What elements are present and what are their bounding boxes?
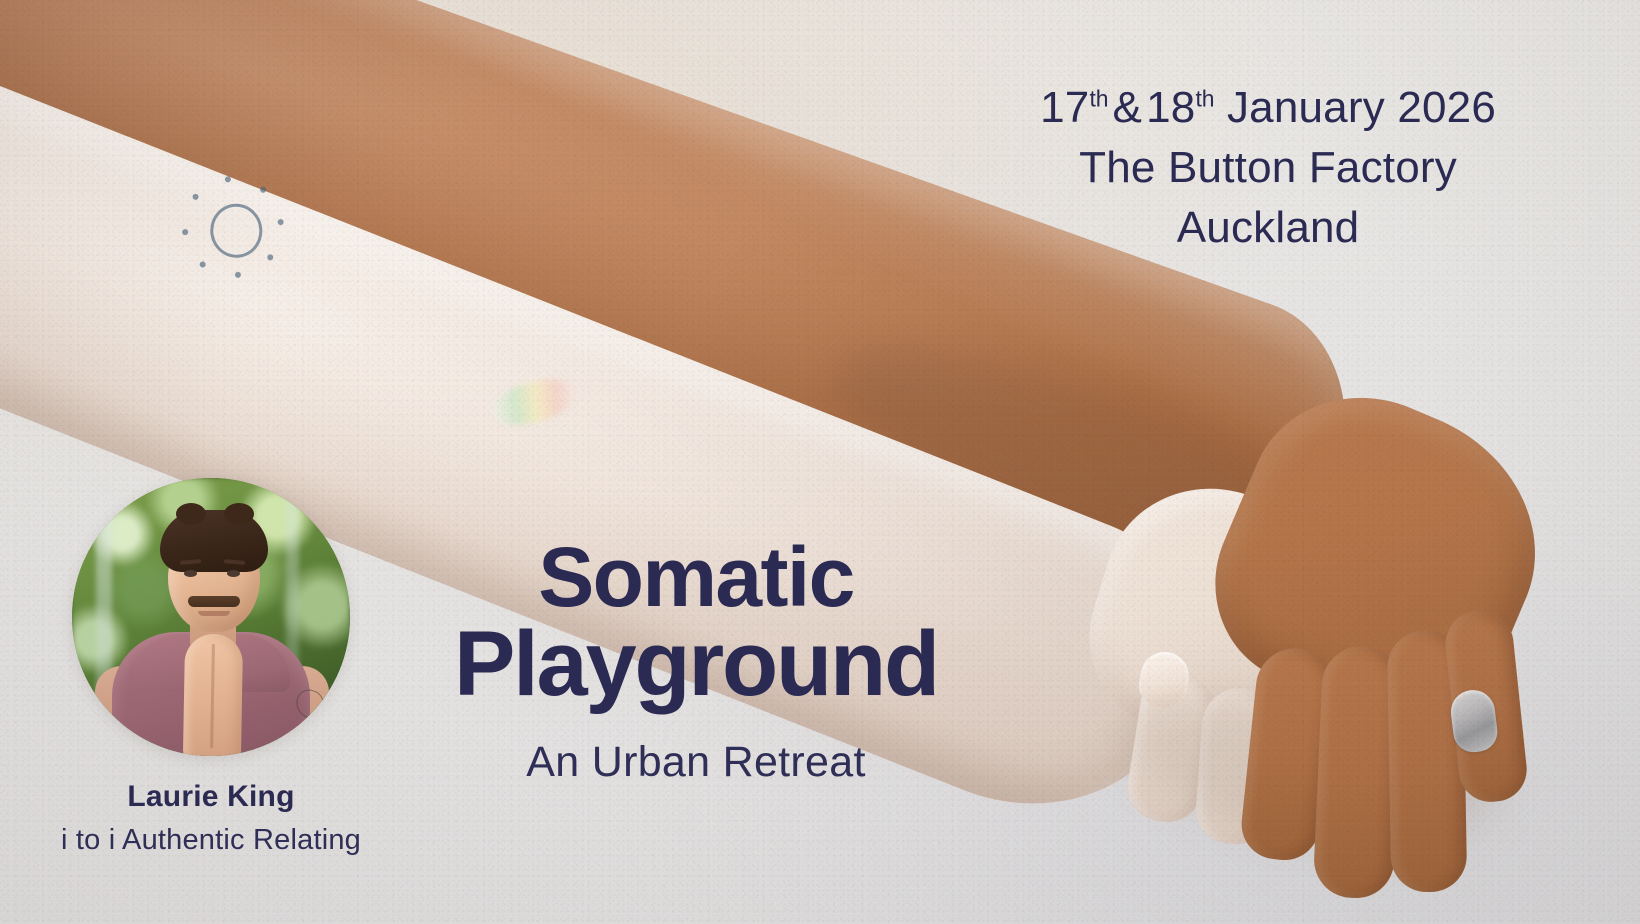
subtitle: An Urban Retreat <box>426 738 966 787</box>
page-title: Somatic Playground An Urban Retreat <box>426 536 966 787</box>
event-date-ordinal-2: th <box>1195 85 1214 111</box>
event-date-ordinal-1: th <box>1089 85 1108 111</box>
event-venue: The Button Factory <box>1040 138 1496 198</box>
event-month-year: January 2026 <box>1227 83 1496 132</box>
event-date-day-2: 18 <box>1146 83 1195 132</box>
avatar-mouth <box>198 611 230 616</box>
event-date-day-1: 17 <box>1040 83 1089 132</box>
presenter-organisation: i to i Authentic Relating <box>46 824 376 857</box>
avatar-hair <box>160 510 268 572</box>
avatar-eye <box>184 570 197 577</box>
presenter-block: Laurie King i to i Authentic Relating <box>46 478 376 857</box>
title-line-1: Somatic <box>426 536 966 619</box>
avatar-moustache <box>188 596 240 607</box>
event-date-line: 17th&18th January 2026 <box>1040 78 1496 138</box>
avatar-eye <box>227 570 240 577</box>
event-city: Auckland <box>1040 198 1496 258</box>
event-details: 17th&18th January 2026 The Button Factor… <box>1040 78 1496 257</box>
avatar <box>72 478 350 756</box>
avatar-prayer-hands <box>183 634 243 756</box>
event-date-ampersand: & <box>1109 83 1147 132</box>
title-line-2: Playground <box>426 619 966 710</box>
poster-canvas: 17th&18th January 2026 The Button Factor… <box>0 0 1640 924</box>
presenter-name: Laurie King <box>46 780 376 814</box>
